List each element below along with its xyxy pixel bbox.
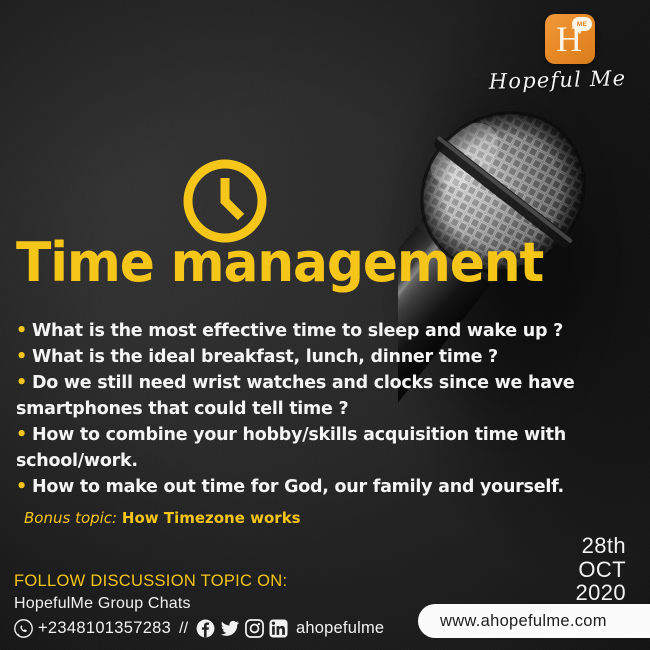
list-item: •What is the most effective time to slee… [16, 318, 596, 344]
bullet-dot: • [16, 477, 27, 497]
list-item: •How to make out time for God, our famil… [16, 474, 596, 500]
list-item: •How to combine your hobby/skills acquis… [16, 422, 596, 448]
list-item-text: How to combine your hobby/skills acquisi… [32, 425, 566, 445]
event-date-day: 28th [575, 534, 626, 558]
bullet-dot: • [16, 425, 27, 445]
footer-subtitle: HopefulMe Group Chats [14, 595, 384, 613]
bonus-topic-label: Bonus topic: [24, 509, 117, 527]
footer-title: FOLLOW DISCUSSION TOPIC ON: [14, 572, 384, 591]
bullet-dot: • [16, 373, 27, 393]
list-item-continuation: school/work. [16, 448, 596, 474]
instagram-icon[interactable] [245, 619, 264, 638]
list-item: •Do we still need wrist watches and cloc… [16, 370, 596, 396]
logo-badge-label: ME [577, 21, 587, 28]
event-date-year: 2020 [575, 581, 626, 605]
list-item-text: What is the most effective time to sleep… [32, 321, 563, 341]
bullet-dot: • [16, 321, 27, 341]
list-item-text: What is the ideal breakfast, lunch, dinn… [32, 347, 498, 367]
website-url: www.ahopefulme.com [440, 612, 607, 631]
footer: FOLLOW DISCUSSION TOPIC ON: HopefulMe Gr… [14, 572, 384, 638]
event-date: 28th OCT 2020 [575, 534, 626, 605]
footer-phone[interactable]: +2348101357283 [38, 619, 171, 638]
bonus-topic: Bonus topic: How Timezone works [24, 508, 301, 528]
brand-logo: H ME [545, 14, 595, 64]
list-item-continuation: smartphones that could tell time ? [16, 396, 596, 422]
poster-canvas: H ME Hopeful Me Time management •What is… [0, 0, 650, 650]
website-badge[interactable]: www.ahopefulme.com [418, 604, 650, 638]
whatsapp-icon[interactable] [14, 619, 33, 638]
linkedin-icon[interactable] [269, 619, 288, 638]
list-item: •What is the ideal breakfast, lunch, din… [16, 344, 596, 370]
list-item-text: How to make out time for God, our family… [32, 477, 564, 497]
page-title: Time management [16, 236, 543, 290]
footer-contact-row: +2348101357283 // [14, 619, 384, 638]
topic-list: •What is the most effective time to slee… [16, 318, 596, 500]
bullet-dot: • [16, 347, 27, 367]
event-date-month: OCT [575, 558, 626, 582]
list-item-text: school/work. [16, 451, 138, 471]
bonus-topic-value: How Timezone works [122, 509, 301, 527]
brand-name: Hopeful Me [470, 66, 646, 95]
facebook-icon[interactable] [196, 619, 215, 638]
footer-handle[interactable]: ahopefulme [296, 619, 384, 638]
list-item-text: smartphones that could tell time ? [16, 399, 348, 419]
footer-separator: // [179, 620, 188, 638]
list-item-text: Do we still need wrist watches and clock… [32, 373, 575, 393]
logo-badge-bubble: ME [572, 17, 592, 31]
twitter-icon[interactable] [220, 619, 240, 638]
